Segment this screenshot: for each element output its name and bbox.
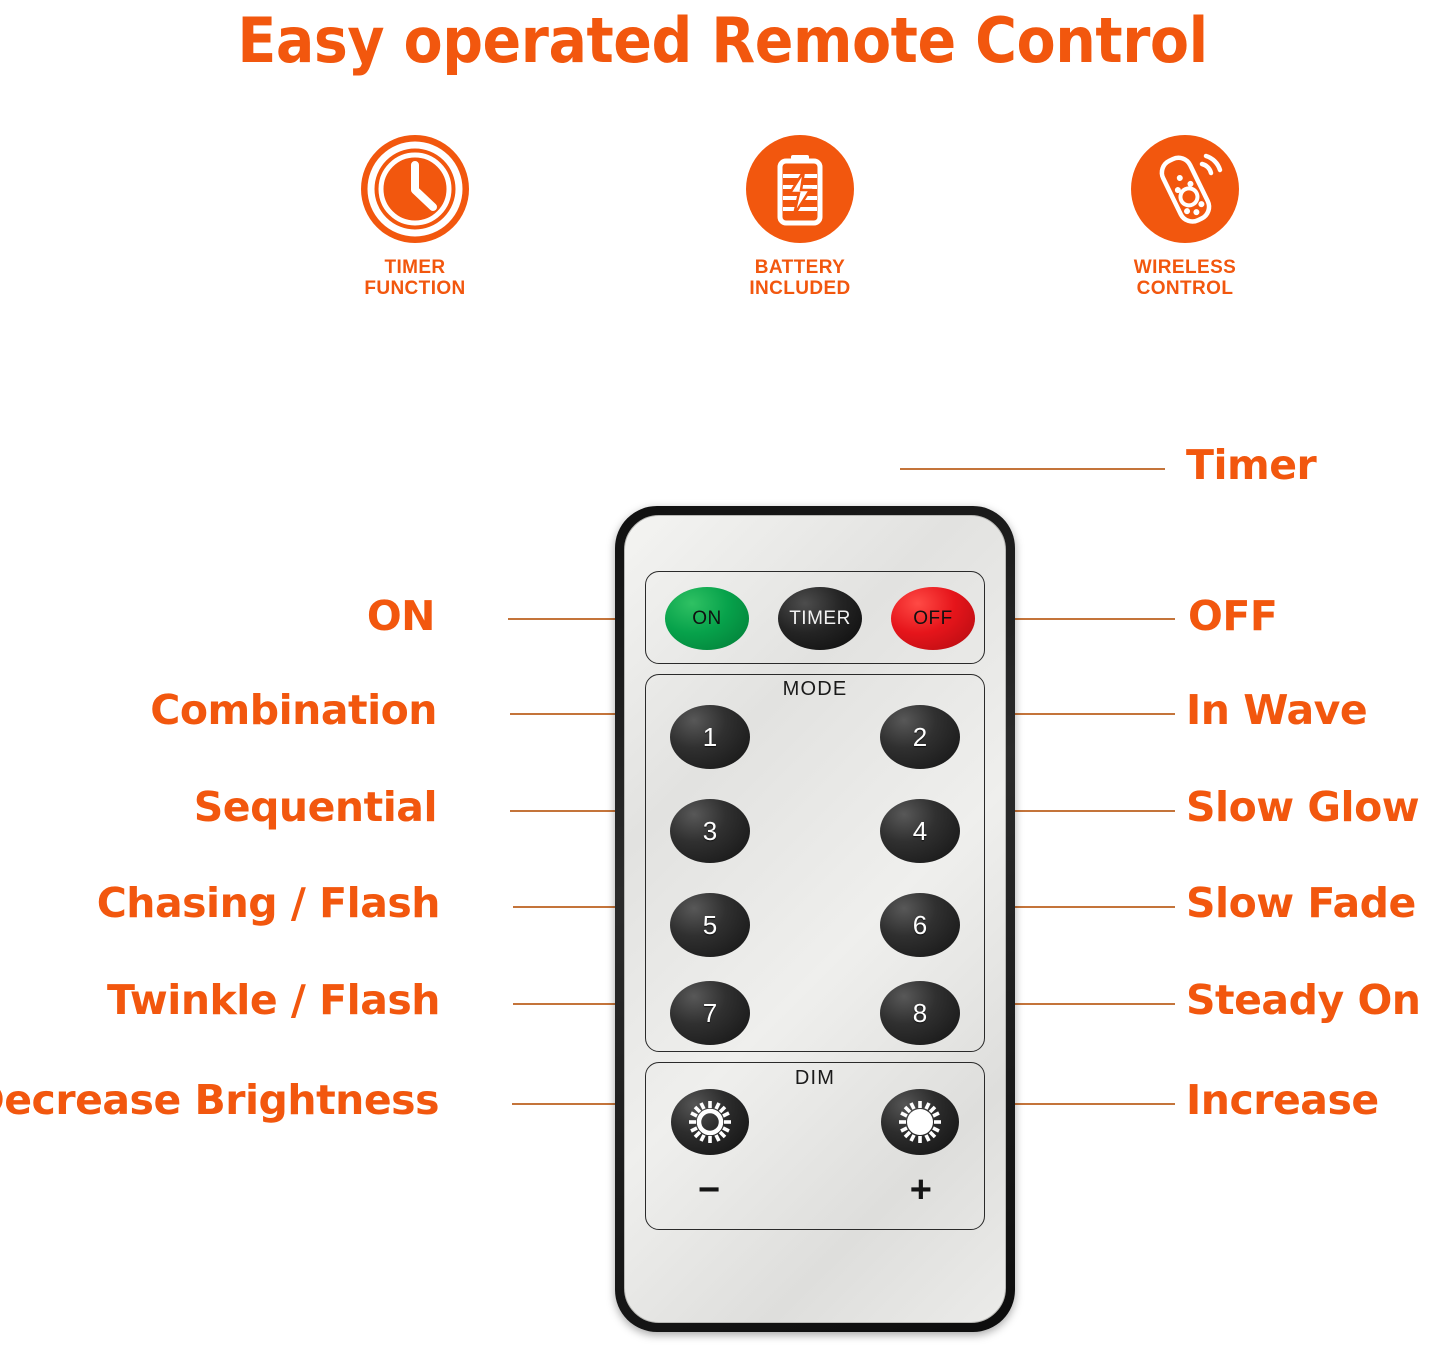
annotation-off: OFF: [1188, 596, 1277, 637]
remote-signal-icon: [1131, 135, 1239, 243]
feature-battery-label: BATTERY INCLUDED: [749, 257, 850, 300]
sun-dim-icon: [683, 1095, 737, 1149]
dim-panel: DIM: [645, 1062, 985, 1230]
leader-line-timer: [900, 468, 1165, 470]
feature-timer-label: TIMER FUNCTION: [364, 257, 465, 300]
feature-timer: TIMER FUNCTION: [300, 135, 530, 300]
battery-icon: [746, 135, 854, 243]
remote-faceplate: ON TIMER OFF MODE 1 2 3 4 5 6 7 8 DIM: [624, 515, 1006, 1323]
off-button[interactable]: OFF: [891, 587, 975, 650]
sun-bright-icon: [893, 1095, 947, 1149]
dim-minus-label: −: [698, 1171, 720, 1209]
annotation-slowfade: Slow Fade: [1186, 883, 1416, 924]
clock-icon: [361, 135, 469, 243]
feature-wireless: WIRELESS CONTROL: [1070, 135, 1300, 300]
mode-panel: MODE 1 2 3 4 5 6 7 8: [645, 674, 985, 1052]
mode-1-button[interactable]: 1: [670, 705, 750, 769]
page-title: Easy operated Remote Control: [58, 4, 1387, 77]
annotation-timer: Timer: [1186, 445, 1316, 486]
mode-5-button[interactable]: 5: [670, 893, 750, 957]
feature-wireless-label: WIRELESS CONTROL: [1134, 257, 1236, 300]
on-button[interactable]: ON: [665, 587, 749, 650]
remote-control-device: ON TIMER OFF MODE 1 2 3 4 5 6 7 8 DIM: [615, 506, 1015, 1332]
annotation-steadyon: Steady On: [1186, 980, 1421, 1021]
dim-up-button[interactable]: [881, 1089, 959, 1155]
mode-2-button[interactable]: 2: [880, 705, 960, 769]
mode-8-button[interactable]: 8: [880, 981, 960, 1045]
mode-4-button[interactable]: 4: [880, 799, 960, 863]
annotation-inwave: In Wave: [1186, 690, 1367, 731]
feature-strip: TIMER FUNCTION BATTERY INCLUDED: [300, 135, 1300, 300]
annotation-twinkle: Twinkle / Flash: [107, 980, 440, 1021]
mode-7-button[interactable]: 7: [670, 981, 750, 1045]
mode-6-button[interactable]: 6: [880, 893, 960, 957]
feature-battery: BATTERY INCLUDED: [685, 135, 915, 300]
annotation-increase: Increase: [1186, 1080, 1379, 1121]
annotation-on: ON: [367, 596, 435, 637]
annotation-combination: Combination: [150, 690, 437, 731]
annotation-slowglow: Slow Glow: [1186, 787, 1419, 828]
mode-panel-label: MODE: [646, 678, 984, 701]
dim-down-button[interactable]: [671, 1089, 749, 1155]
annotation-sequential: Sequential: [194, 787, 437, 828]
dim-plus-label: +: [910, 1171, 932, 1209]
timer-button[interactable]: TIMER: [778, 587, 862, 650]
annotation-decrease: Decrease Brightness: [0, 1080, 439, 1121]
dim-panel-label: DIM: [646, 1067, 984, 1090]
mode-3-button[interactable]: 3: [670, 799, 750, 863]
annotation-chasing: Chasing / Flash: [97, 883, 440, 924]
power-panel: ON TIMER OFF: [645, 571, 985, 664]
